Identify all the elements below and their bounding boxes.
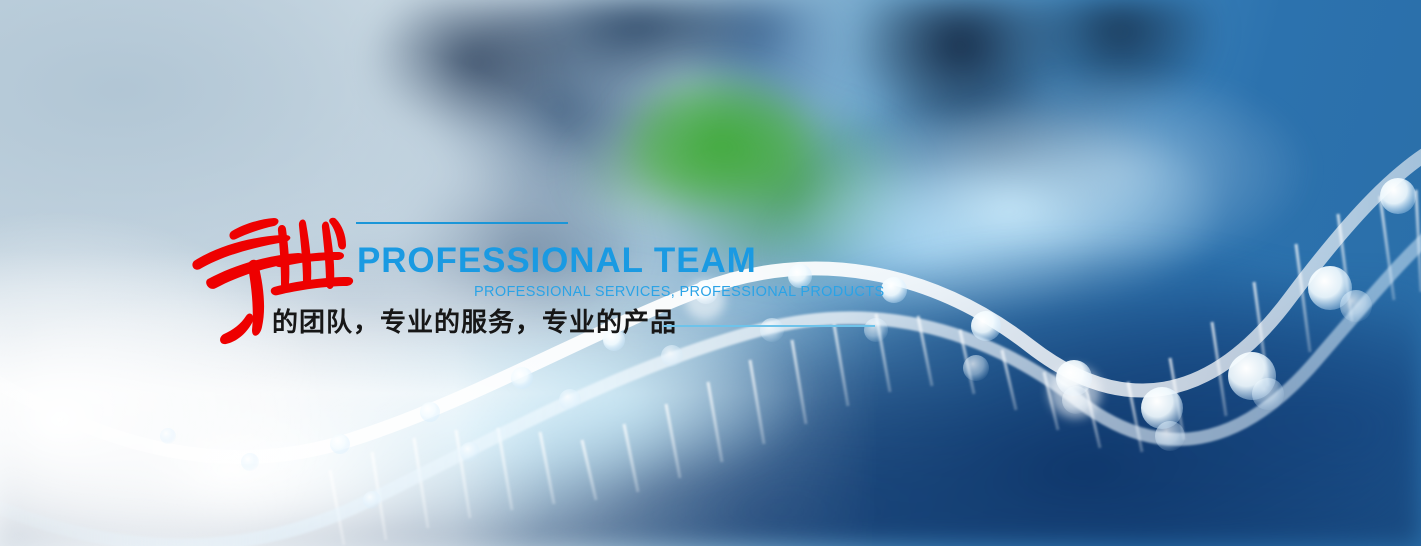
banner-title-english: PROFESSIONAL TEAM [357,243,757,278]
divider-line-top [356,222,568,224]
banner-subtitle-english: PROFESSIONAL SERVICES, PROFESSIONAL PROD… [474,285,884,300]
promotional-banner: PROFESSIONAL TEAM PROFESSIONAL SERVICES,… [0,0,1421,546]
banner-tagline-chinese: 的团队，专业的服务，专业的产品 [272,306,677,339]
divider-line-bottom [663,325,875,327]
banner-text-block: PROFESSIONAL TEAM PROFESSIONAL SERVICES,… [0,0,1421,546]
